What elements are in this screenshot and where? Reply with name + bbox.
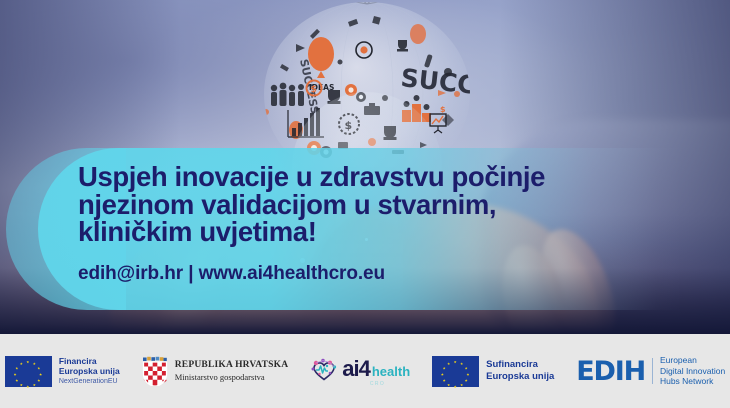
edih-tagline-line3: Hubs Network <box>660 376 725 387</box>
svg-text:$: $ <box>440 105 446 114</box>
logo-republika-hrvatska: REPUBLIKA HRVATSKA Ministarstvo gospodar… <box>142 356 289 386</box>
eu-cofunded-text: Sufinancira Europska unija <box>486 359 554 383</box>
eu-flag-icon <box>5 356 52 387</box>
eu-flag-icon <box>432 356 479 387</box>
hr-logo-line2: Ministarstvo gospodarstva <box>175 372 289 383</box>
eu-logo-line2: Europska unija <box>59 366 120 376</box>
ai4-word: ai4 <box>342 356 370 382</box>
edih-tagline-line1: European <box>660 355 725 366</box>
headline-line-3: kliničkim uvjetima! <box>78 218 678 246</box>
footer-logo-strip: Financira Europska unija NextGenerationE… <box>0 334 730 408</box>
eu-logo-text: Financira Europska unija NextGenerationE… <box>59 356 120 387</box>
eu-logo-line1: Financira <box>59 356 120 366</box>
cro-word: CRO <box>370 381 410 387</box>
headline-line-1: Uspjeh inovacije u zdravstvu počinje <box>78 163 678 191</box>
hr-logo-text: REPUBLIKA HRVATSKA Ministarstvo gospodar… <box>175 360 289 383</box>
logo-eu-next-generation: Financira Europska unija NextGenerationE… <box>5 356 120 387</box>
logo-ai4health-cro: ai4 health CRO <box>310 356 410 387</box>
edih-divider <box>652 358 653 384</box>
eu-cofunded-line1: Sufinancira <box>486 359 554 371</box>
svg-text:$: $ <box>311 85 317 95</box>
contact-line[interactable]: edih@irb.hr | www.ai4healthcro.eu <box>78 263 678 285</box>
logo-edih: EDIH European Digital Innovation Hubs Ne… <box>576 355 725 387</box>
edih-tagline-line2: Digital Innovation <box>660 366 725 377</box>
eu-logo-sub: NextGenerationEU <box>59 377 120 387</box>
eu-cofunded-line2: Europska unija <box>486 371 554 383</box>
message-copy: Uspjeh inovacije u zdravstvu počinje nje… <box>78 163 678 285</box>
logo-eu-cofunded: Sufinancira Europska unija <box>432 356 554 387</box>
headline-line-2: njezinom validacijom u stvarnim, <box>78 191 678 219</box>
ai4health-mark-icon <box>310 358 341 384</box>
health-cro-stack: health CRO <box>370 363 410 387</box>
edih-tagline: European Digital Innovation Hubs Network <box>660 355 725 387</box>
promo-banner: SUCCESS SUCCESS IDEAS <box>0 0 730 408</box>
health-word: health <box>372 364 410 379</box>
croatian-coat-of-arms-icon <box>142 356 168 386</box>
hr-logo-line1: REPUBLIKA HRVATSKA <box>175 360 289 371</box>
headline: Uspjeh inovacije u zdravstvu počinje nje… <box>78 163 678 246</box>
ai4health-wordmark: ai4 health CRO <box>342 356 410 387</box>
edih-wordmark: EDIH <box>576 356 645 387</box>
